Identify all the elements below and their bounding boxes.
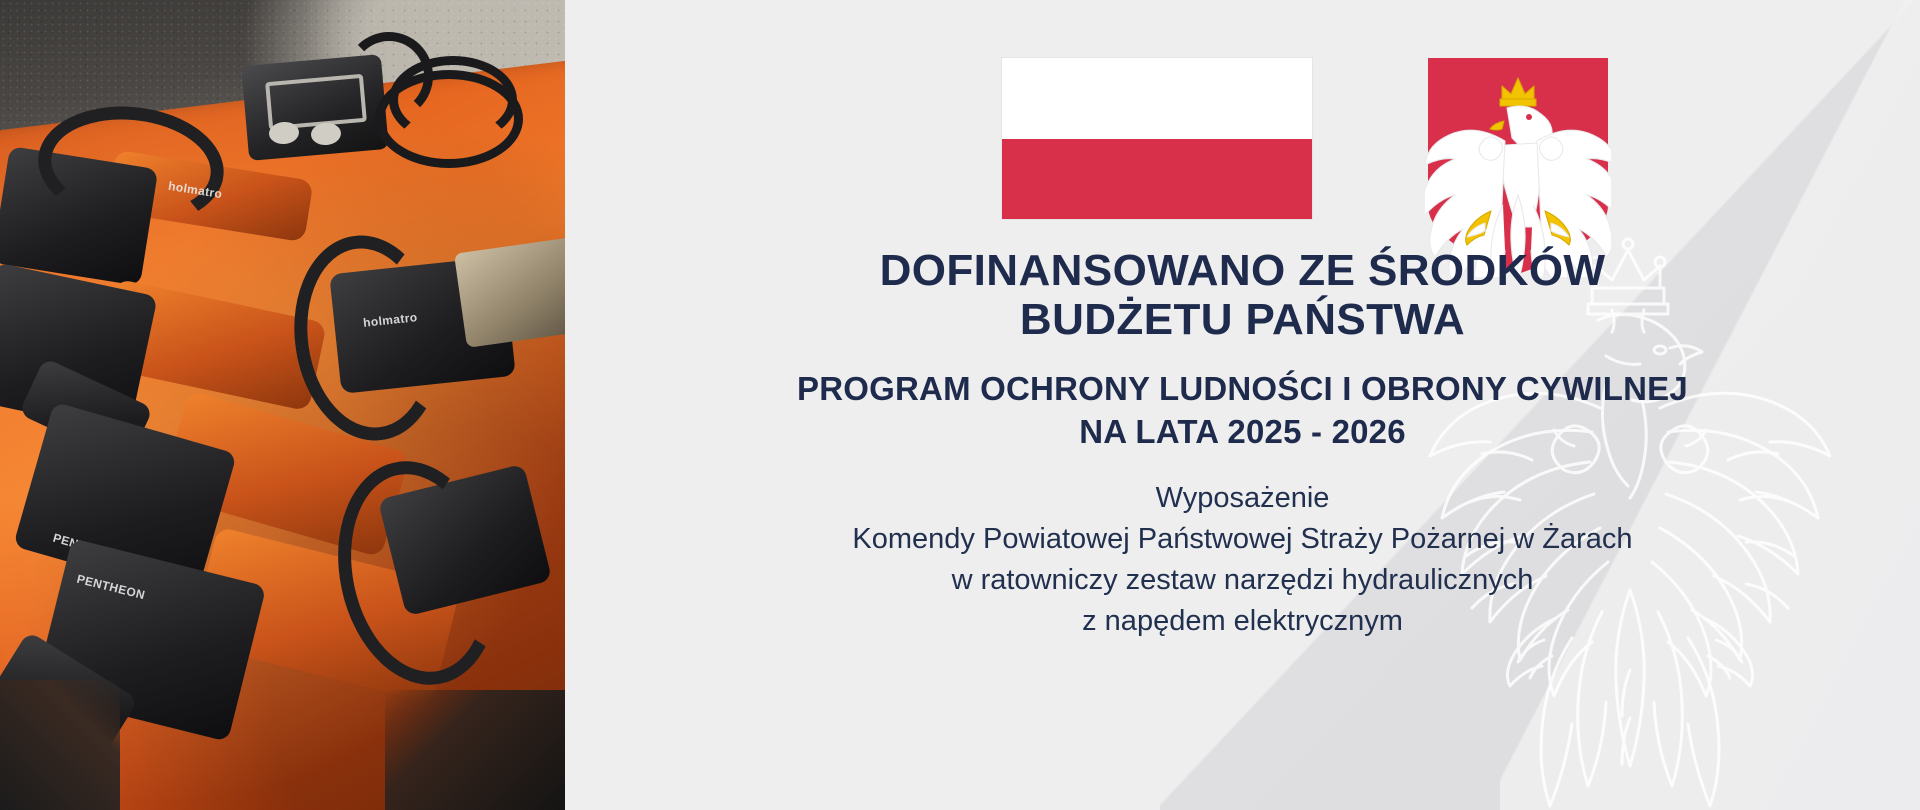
polish-flag-icon [1002,58,1312,219]
description-line-3: w ratowniczy zestaw narzędzi hydrauliczn… [565,560,1920,601]
polish-coat-of-arms-icon [1425,55,1611,277]
funding-text-panel: DOFINANSOWANO ZE ŚRODKÓW BUDŻETU PAŃSTWA… [565,0,1920,810]
rescue-equipment-photo: holmatro PENTHEON PENTHEON holmatro [0,0,565,810]
heading-line-1: DOFINANSOWANO ZE ŚRODKÓW [565,246,1920,295]
program-line-2: NA LATA 2025 - 2026 [565,412,1920,452]
hydraulic-tool-right-lower [340,440,565,730]
description-line-1: Wyposażenie [565,478,1920,519]
description-line-4: z napędem elektrycznym [565,601,1920,642]
funding-text-block: DOFINANSOWANO ZE ŚRODKÓW BUDŻETU PAŃSTWA… [565,246,1920,642]
photo-shadow-bottom-left [0,680,120,810]
national-emblems-row [565,58,1920,278]
funding-information-banner: holmatro PENTHEON PENTHEON holmatro [0,0,1920,810]
flag-white-stripe [1002,58,1312,139]
heading-line-2: BUDŻETU PAŃSTWA [565,295,1920,344]
photo-shadow-bottom-right [385,690,565,810]
coiled-cable [355,40,525,170]
flag-red-stripe [1002,139,1312,220]
program-line-1: PROGRAM OCHRONY LUDNOŚCI I OBRONY CYWILN… [565,369,1920,409]
description-line-2: Komendy Powiatowej Państwowej Straży Poż… [565,519,1920,560]
